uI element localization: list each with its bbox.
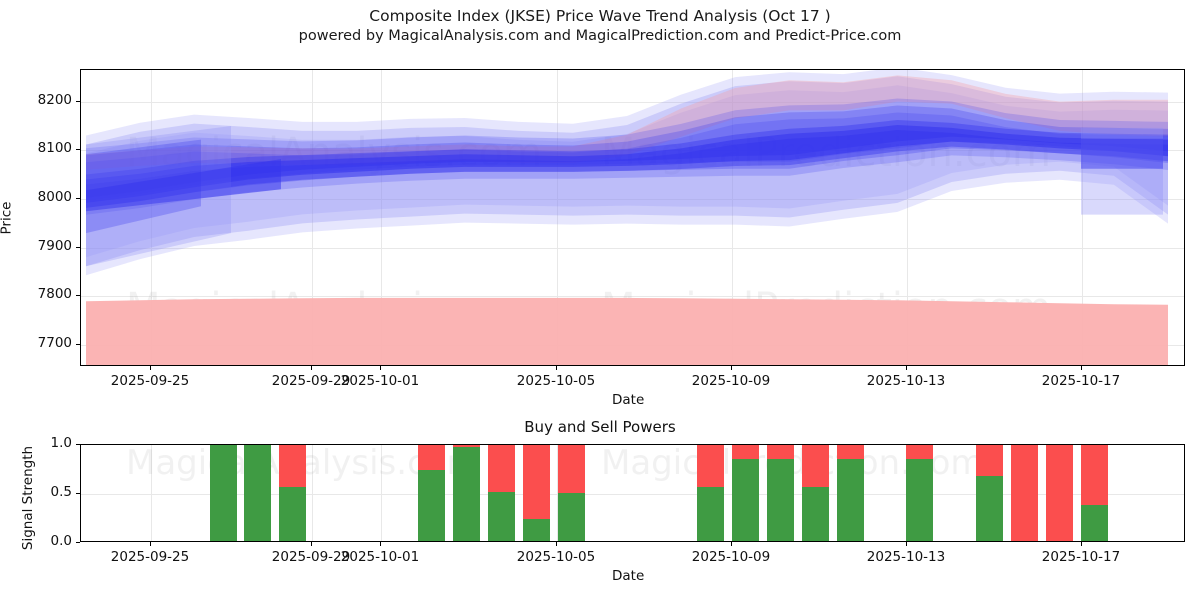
signal-bar[interactable] — [244, 444, 271, 541]
price-x-tick-label: 2025-10-09 — [692, 373, 770, 389]
signal-bar-buy-segment — [802, 487, 829, 541]
signal-gridline-v — [312, 445, 313, 541]
price-x-tick — [731, 366, 732, 370]
price-x-tick — [556, 366, 557, 370]
signal-y-tick — [76, 444, 80, 445]
signal-bar[interactable] — [1046, 444, 1073, 541]
signal-bar-sell-segment — [732, 444, 759, 459]
signal-bar-sell-segment — [802, 444, 829, 487]
price-x-tick-label: 2025-10-01 — [341, 373, 419, 389]
price-y-tick-label: 8200 — [38, 92, 72, 108]
signal-bar[interactable] — [976, 444, 1003, 541]
signal-bar-buy-segment — [837, 459, 864, 541]
price-y-tick — [76, 344, 80, 345]
signal-bar[interactable] — [802, 444, 829, 541]
price-y-axis-title: Price — [0, 202, 14, 235]
price-x-tick — [380, 366, 381, 370]
signal-bar-buy-segment — [906, 459, 933, 541]
signal-bar[interactable] — [837, 444, 864, 541]
signal-y-tick — [76, 542, 80, 543]
signal-bar[interactable] — [558, 444, 585, 541]
price-y-tick — [76, 198, 80, 199]
signal-bar-buy-segment — [279, 487, 306, 541]
signal-bar[interactable] — [697, 444, 724, 541]
signal-x-tick — [731, 542, 732, 546]
signal-gridline-v — [151, 445, 152, 541]
signal-chart-title: Buy and Sell Powers — [0, 418, 1200, 436]
price-x-tick-label: 2025-09-29 — [272, 373, 350, 389]
signal-bar[interactable] — [1081, 444, 1108, 541]
signal-y-tick — [76, 493, 80, 494]
signal-bar-buy-segment — [976, 476, 1003, 541]
price-y-tick-label: 7900 — [38, 238, 72, 254]
signal-bar[interactable] — [732, 444, 759, 541]
right-block-core — [1081, 139, 1163, 169]
signal-bar-buy-segment — [732, 459, 759, 541]
signal-bar-sell-segment — [488, 444, 515, 492]
chart-title-block: Composite Index (JKSE) Price Wave Trend … — [0, 6, 1200, 46]
signal-bar-buy-segment — [558, 493, 585, 541]
signal-x-tick — [1081, 542, 1082, 546]
signal-bar[interactable] — [210, 444, 237, 541]
signal-x-tick-label: 2025-10-01 — [341, 549, 419, 565]
price-y-tick — [76, 295, 80, 296]
signal-bar-sell-segment — [697, 444, 724, 487]
signal-x-tick-label: 2025-10-09 — [692, 549, 770, 565]
signal-x-tick — [311, 542, 312, 546]
price-chart-plot-area: MagicalAnalysis.comMagicalPrediction.com… — [80, 69, 1185, 366]
signal-y-axis-title: Signal Strength — [20, 446, 36, 550]
price-x-tick — [1081, 366, 1082, 370]
signal-bar[interactable] — [767, 444, 794, 541]
signal-bar[interactable] — [453, 444, 480, 541]
price-x-tick-label: 2025-09-25 — [111, 373, 189, 389]
signal-bar-buy-segment — [767, 459, 794, 541]
signal-bar-buy-segment — [523, 519, 550, 541]
signal-bar-buy-segment — [453, 447, 480, 541]
signal-bar-sell-segment — [976, 444, 1003, 476]
price-x-tick-label: 2025-10-05 — [517, 373, 595, 389]
price-x-tick — [150, 366, 151, 370]
signal-bar[interactable] — [488, 444, 515, 541]
signal-y-tick-label: 1.0 — [51, 435, 72, 451]
signal-bar-buy-segment — [244, 444, 271, 541]
signal-x-tick-label: 2025-10-13 — [867, 549, 945, 565]
signal-x-tick — [150, 542, 151, 546]
price-y-tick-label: 8100 — [38, 140, 72, 156]
price-x-axis-title: Date — [612, 392, 644, 408]
signal-bar-sell-segment — [523, 444, 550, 519]
signal-bar-sell-segment — [418, 444, 445, 470]
signal-bar[interactable] — [906, 444, 933, 541]
signal-bar[interactable] — [523, 444, 550, 541]
support-band — [86, 298, 1168, 366]
signal-bar[interactable] — [418, 444, 445, 541]
signal-x-tick-label: 2025-09-25 — [111, 549, 189, 565]
signal-gridline-v — [381, 445, 382, 541]
price-y-axis-title-text: Price — [0, 202, 14, 235]
price-y-tick-label: 7700 — [38, 335, 72, 351]
price-x-tick-label: 2025-10-17 — [1042, 373, 1120, 389]
page-subtitle: powered by MagicalAnalysis.com and Magic… — [0, 26, 1200, 46]
signal-y-tick-label: 0.5 — [51, 484, 72, 500]
signal-bar-sell-segment — [1011, 444, 1038, 541]
signal-x-tick-label: 2025-10-05 — [517, 549, 595, 565]
price-x-tick-label: 2025-10-13 — [867, 373, 945, 389]
signal-y-tick-label: 0.0 — [51, 533, 72, 549]
signal-bar-buy-segment — [210, 444, 237, 541]
signal-bar-sell-segment — [837, 444, 864, 459]
signal-x-tick — [556, 542, 557, 546]
signal-y-axis-title-text: Signal Strength — [20, 446, 36, 550]
signal-bar-sell-segment — [279, 444, 306, 487]
price-y-tick-label: 7800 — [38, 286, 72, 302]
signal-x-tick-label: 2025-10-17 — [1042, 549, 1120, 565]
signal-bar[interactable] — [1011, 444, 1038, 541]
price-x-tick — [906, 366, 907, 370]
signal-bar[interactable] — [279, 444, 306, 541]
signal-x-tick-label: 2025-09-29 — [272, 549, 350, 565]
signal-chart-plot-area: MagicalAnalysis.comMagicalPrediction.com — [80, 444, 1185, 542]
page-title: Composite Index (JKSE) Price Wave Trend … — [0, 6, 1200, 26]
signal-bar-buy-segment — [697, 487, 724, 541]
price-x-tick — [311, 366, 312, 370]
signal-bar-sell-segment — [906, 444, 933, 459]
price-y-tick — [76, 247, 80, 248]
signal-bar-sell-segment — [767, 444, 794, 459]
signal-bar-sell-segment — [558, 444, 585, 493]
signal-x-tick — [380, 542, 381, 546]
price-y-tick-label: 8000 — [38, 189, 72, 205]
signal-bar-sell-segment — [1081, 444, 1108, 505]
signal-x-tick — [906, 542, 907, 546]
signal-bar-sell-segment — [1046, 444, 1073, 541]
signal-bar-buy-segment — [1081, 505, 1108, 541]
price-wave-bands — [81, 70, 1185, 366]
signal-x-axis-title: Date — [612, 568, 644, 584]
chart-page: Composite Index (JKSE) Price Wave Trend … — [0, 0, 1200, 600]
price-y-tick — [76, 149, 80, 150]
price-y-tick — [76, 101, 80, 102]
signal-bar-buy-segment — [418, 470, 445, 541]
signal-bar-buy-segment — [488, 492, 515, 541]
